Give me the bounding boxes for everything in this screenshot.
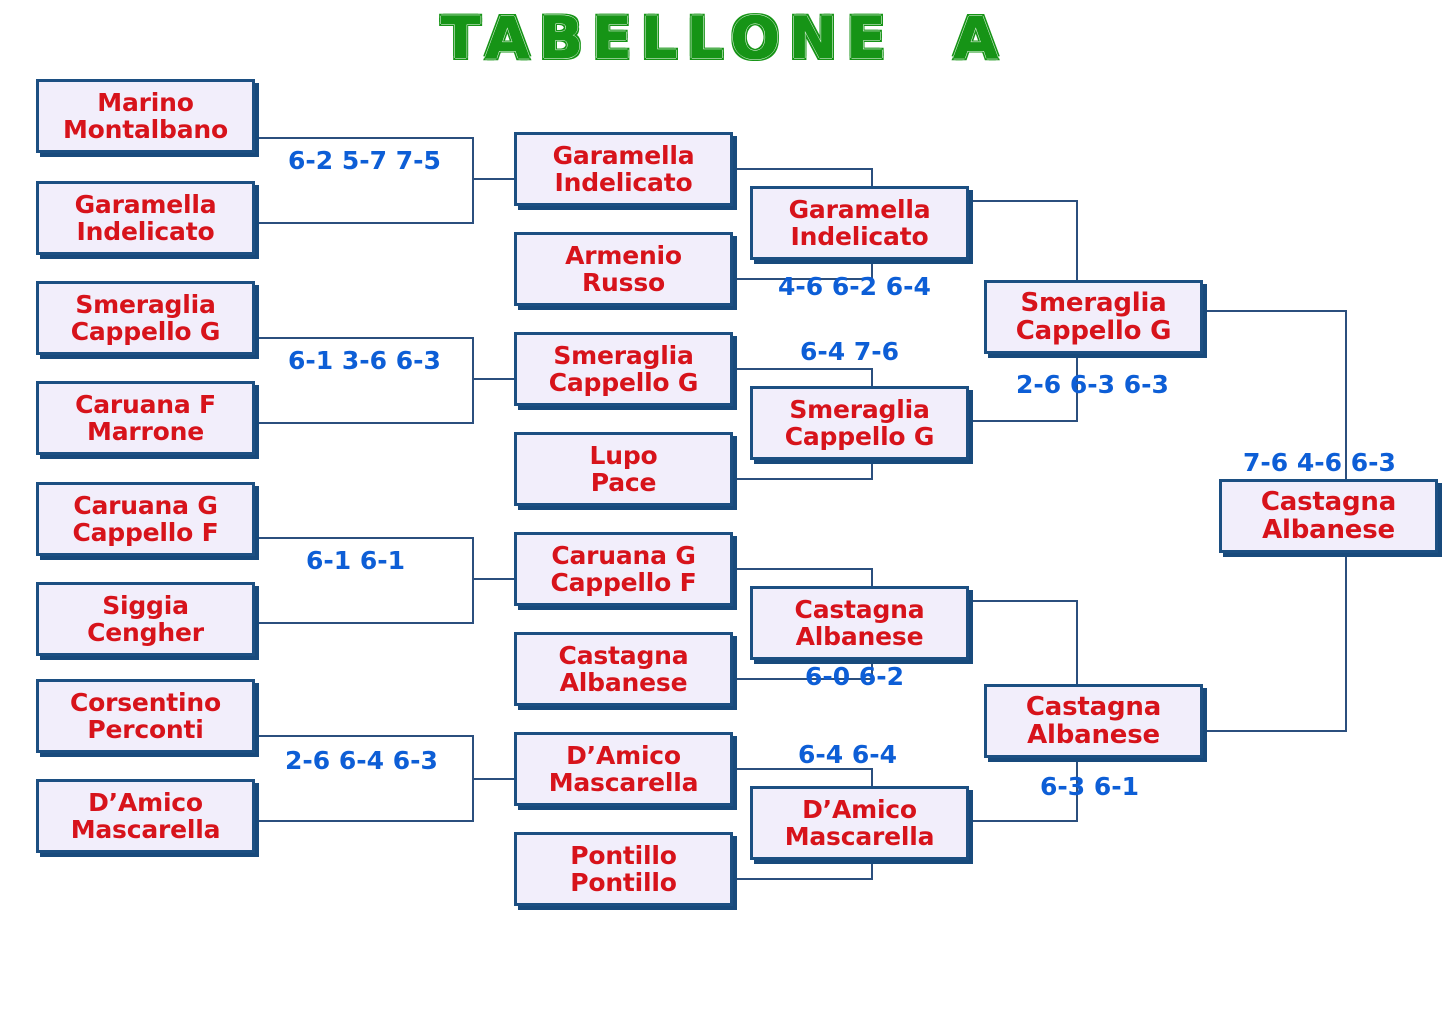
- connector-line: [472, 778, 516, 780]
- team-name-line2: Mascarella: [549, 769, 699, 796]
- team-name-line1: D’Amico: [566, 742, 681, 769]
- team-name-line1: Castagna: [559, 642, 689, 669]
- team-name-line1: Armenio: [565, 242, 682, 269]
- team-box-semifinal-1[interactable]: Smeraglia Cappello G: [984, 280, 1203, 354]
- team-name-line2: Perconti: [87, 716, 203, 743]
- team-box-champion[interactable]: Castagna Albanese: [1219, 479, 1438, 553]
- score-semifinal-2: 6-3 6-1: [1040, 772, 1139, 801]
- team-box-r3-4[interactable]: D’Amico Mascarella: [750, 786, 969, 860]
- bracket-canvas: TABELLONE A Marino Mont: [0, 0, 1448, 1024]
- connector-line: [255, 820, 474, 822]
- team-name-line2: Cappello G: [71, 318, 221, 345]
- score-r1-match4: 2-6 6-4 6-3: [285, 746, 438, 775]
- team-name-line1: Caruana G: [551, 542, 695, 569]
- team-name-line2: Mascarella: [71, 816, 221, 843]
- team-box-r1-8[interactable]: D’Amico Mascarella: [36, 779, 255, 853]
- team-box-r1-5[interactable]: Caruana G Cappello F: [36, 482, 255, 556]
- team-name-line1: Smeraglia: [75, 291, 215, 318]
- connector-line: [1203, 310, 1347, 312]
- team-name-line1: Castagna: [1261, 488, 1396, 516]
- team-name-line2: Indelicato: [555, 169, 693, 196]
- team-box-r2-4[interactable]: Lupo Pace: [514, 432, 733, 506]
- team-name-line1: Castagna: [1026, 693, 1161, 721]
- team-name-line2: Indelicato: [77, 218, 215, 245]
- connector-line: [255, 422, 474, 424]
- team-box-r2-3[interactable]: Smeraglia Cappello G: [514, 332, 733, 406]
- score-r1-match3: 6-1 6-1: [306, 546, 405, 575]
- team-name-line2: Albanese: [560, 669, 688, 696]
- team-name-line1: Smeraglia: [553, 342, 693, 369]
- connector-line: [472, 578, 516, 580]
- team-box-r2-7[interactable]: D’Amico Mascarella: [514, 732, 733, 806]
- team-box-r1-3[interactable]: Smeraglia Cappello G: [36, 281, 255, 355]
- team-name-line1: Caruana F: [75, 391, 216, 418]
- connector-line: [255, 137, 474, 139]
- score-r3-match1: 4-6 6-2 6-4: [778, 272, 931, 301]
- connector-line: [472, 537, 474, 624]
- team-name-line1: Castagna: [795, 596, 925, 623]
- team-name-line1: Garamella: [553, 142, 695, 169]
- connector-line: [255, 537, 474, 539]
- connector-line: [968, 200, 1078, 202]
- team-box-r2-2[interactable]: Armenio Russo: [514, 232, 733, 306]
- connector-line: [733, 478, 873, 480]
- team-box-r3-3[interactable]: Castagna Albanese: [750, 586, 969, 660]
- team-box-r1-1[interactable]: Marino Montalbano: [36, 79, 255, 153]
- connector-line: [472, 178, 516, 180]
- team-name-line1: Pontillo: [570, 842, 677, 869]
- page-title: TABELLONE A: [0, 4, 1448, 72]
- team-name-line2: Cengher: [87, 619, 204, 646]
- connector-line: [733, 368, 873, 370]
- team-name-line1: Siggia: [102, 592, 189, 619]
- score-r3-match4: 6-4 6-4: [798, 740, 897, 769]
- team-box-semifinal-2[interactable]: Castagna Albanese: [984, 684, 1203, 758]
- team-box-r3-1[interactable]: Garamella Indelicato: [750, 186, 969, 260]
- team-box-r1-2[interactable]: Garamella Indelicato: [36, 181, 255, 255]
- team-name-line2: Pontillo: [570, 869, 677, 896]
- connector-line: [733, 168, 873, 170]
- connector-line: [472, 137, 474, 224]
- team-box-r1-6[interactable]: Siggia Cengher: [36, 582, 255, 656]
- team-box-r1-4[interactable]: Caruana F Marrone: [36, 381, 255, 455]
- team-box-r2-6[interactable]: Castagna Albanese: [514, 632, 733, 706]
- team-box-r3-2[interactable]: Smeraglia Cappello G: [750, 386, 969, 460]
- team-name-line2: Cappello F: [72, 519, 218, 546]
- team-name-line2: Cappello G: [1016, 317, 1172, 345]
- score-r1-match1: 6-2 5-7 7-5: [288, 146, 441, 175]
- team-box-r2-1[interactable]: Garamella Indelicato: [514, 132, 733, 206]
- connector-line: [255, 337, 474, 339]
- team-box-r2-8[interactable]: Pontillo Pontillo: [514, 832, 733, 906]
- score-r3-match3: 6-0 6-2: [805, 662, 904, 691]
- team-name-line2: Pace: [591, 469, 657, 496]
- score-semifinal-1: 2-6 6-3 6-3: [1016, 370, 1169, 399]
- connector-line: [968, 600, 1078, 602]
- team-name-line2: Albanese: [1262, 516, 1395, 544]
- connector-line: [968, 820, 1078, 822]
- connector-line: [968, 420, 1078, 422]
- team-name-line1: Lupo: [590, 442, 658, 469]
- team-name-line2: Albanese: [796, 623, 924, 650]
- connector-line: [255, 735, 474, 737]
- team-name-line1: D’Amico: [802, 796, 917, 823]
- team-name-line2: Cappello F: [550, 569, 696, 596]
- score-r1-match2: 6-1 3-6 6-3: [288, 346, 441, 375]
- team-box-r1-7[interactable]: Corsentino Perconti: [36, 679, 255, 753]
- team-name-line1: Garamella: [789, 196, 931, 223]
- team-name-line2: Mascarella: [785, 823, 935, 850]
- team-name-line1: Garamella: [75, 191, 217, 218]
- team-name-line1: Marino: [97, 89, 193, 116]
- team-name-line2: Marrone: [87, 418, 204, 445]
- team-name-line2: Russo: [582, 269, 665, 296]
- team-name-line2: Albanese: [1027, 721, 1160, 749]
- connector-line: [733, 878, 873, 880]
- connector-line: [472, 378, 516, 380]
- team-name-line1: Smeraglia: [789, 396, 929, 423]
- team-name-line2: Cappello G: [785, 423, 935, 450]
- connector-line: [472, 337, 474, 424]
- connector-line: [733, 568, 873, 570]
- connector-line: [1203, 730, 1347, 732]
- score-r3-match2: 6-4 7-6: [800, 337, 899, 366]
- score-final: 7-6 4-6 6-3: [1243, 448, 1396, 477]
- connector-line: [255, 222, 474, 224]
- team-name-line1: Caruana G: [73, 492, 217, 519]
- team-name-line2: Montalbano: [63, 116, 228, 143]
- team-box-r2-5[interactable]: Caruana G Cappello F: [514, 532, 733, 606]
- team-name-line1: Smeraglia: [1021, 289, 1167, 317]
- team-name-line2: Indelicato: [791, 223, 929, 250]
- team-name-line2: Cappello G: [549, 369, 699, 396]
- team-name-line1: D’Amico: [88, 789, 203, 816]
- team-name-line1: Corsentino: [70, 689, 221, 716]
- connector-line: [255, 622, 474, 624]
